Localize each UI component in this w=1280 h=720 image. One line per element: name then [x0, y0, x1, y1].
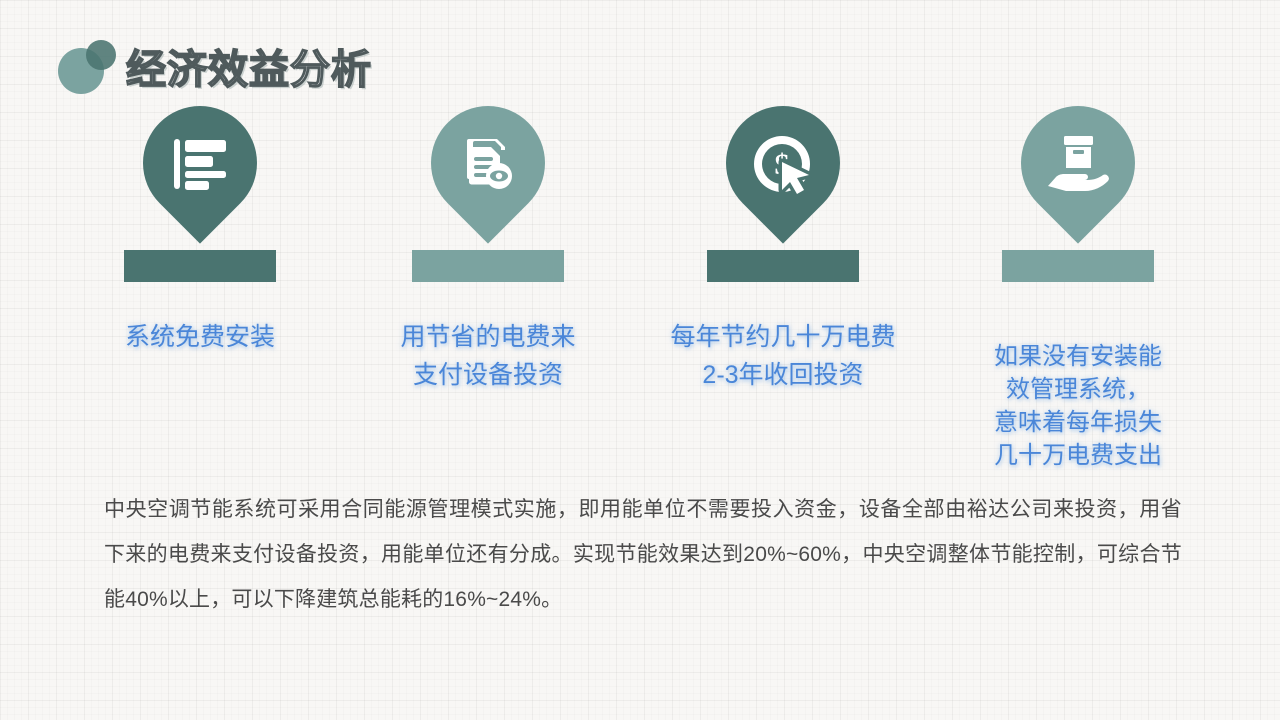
body-paragraph: 中央空调节能系统可采用合同能源管理模式实施，即用能单位不需要投入资金，设备全部由… [104, 487, 1182, 622]
pin-item-4 [968, 106, 1188, 296]
pin-item-3: $ [673, 106, 893, 296]
pin-label-4: 如果没有安装能 效管理系统， 意味着每年损失 几十万电费支出 [953, 340, 1203, 472]
documents-eye-icon [431, 120, 545, 208]
document-bars-icon [143, 120, 257, 208]
pin-base-bar-2 [412, 250, 564, 282]
pin-label-line: 每年节约几十万电费 [653, 318, 913, 356]
pin-base-bar-3 [707, 250, 859, 282]
pin-label-line: 系统免费安装 [70, 318, 330, 356]
pin-marker-4 [1021, 106, 1135, 251]
logo-circle-small-icon [86, 40, 116, 70]
pin-label-line: 效管理系统， [953, 373, 1203, 406]
pin-label-line: 几十万电费支出 [953, 439, 1203, 472]
pin-item-1 [90, 106, 310, 296]
pin-marker-1 [143, 106, 257, 251]
pin-label-line: 意味着每年损失 [953, 406, 1203, 439]
pin-base-bar-4 [1002, 250, 1154, 282]
pin-label-1: 系统免费安装 [70, 318, 330, 356]
pin-label-line: 如果没有安装能 [953, 340, 1203, 373]
pin-item-2 [378, 106, 598, 296]
pin-row: $ [0, 106, 1280, 296]
logo [58, 40, 130, 96]
pin-label-line: 用节省的电费来 [358, 318, 618, 356]
pin-marker-3: $ [726, 106, 840, 251]
slide-canvas: 经济效益分析 [0, 0, 1280, 720]
label-row: 系统免费安装 用节省的电费来 支付设备投资 每年节约几十万电费 2-3年收回投资… [0, 318, 1280, 478]
pin-label-2: 用节省的电费来 支付设备投资 [358, 318, 618, 394]
pin-base-bar-1 [124, 250, 276, 282]
page-title: 经济效益分析 [126, 44, 372, 96]
pin-marker-2 [431, 106, 545, 251]
pin-label-3: 每年节约几十万电费 2-3年收回投资 [653, 318, 913, 394]
dollar-coin-cursor-icon: $ [726, 120, 840, 208]
pin-label-line: 2-3年收回投资 [653, 356, 913, 394]
hand-box-icon [1021, 120, 1135, 208]
pin-label-line: 支付设备投资 [358, 356, 618, 394]
